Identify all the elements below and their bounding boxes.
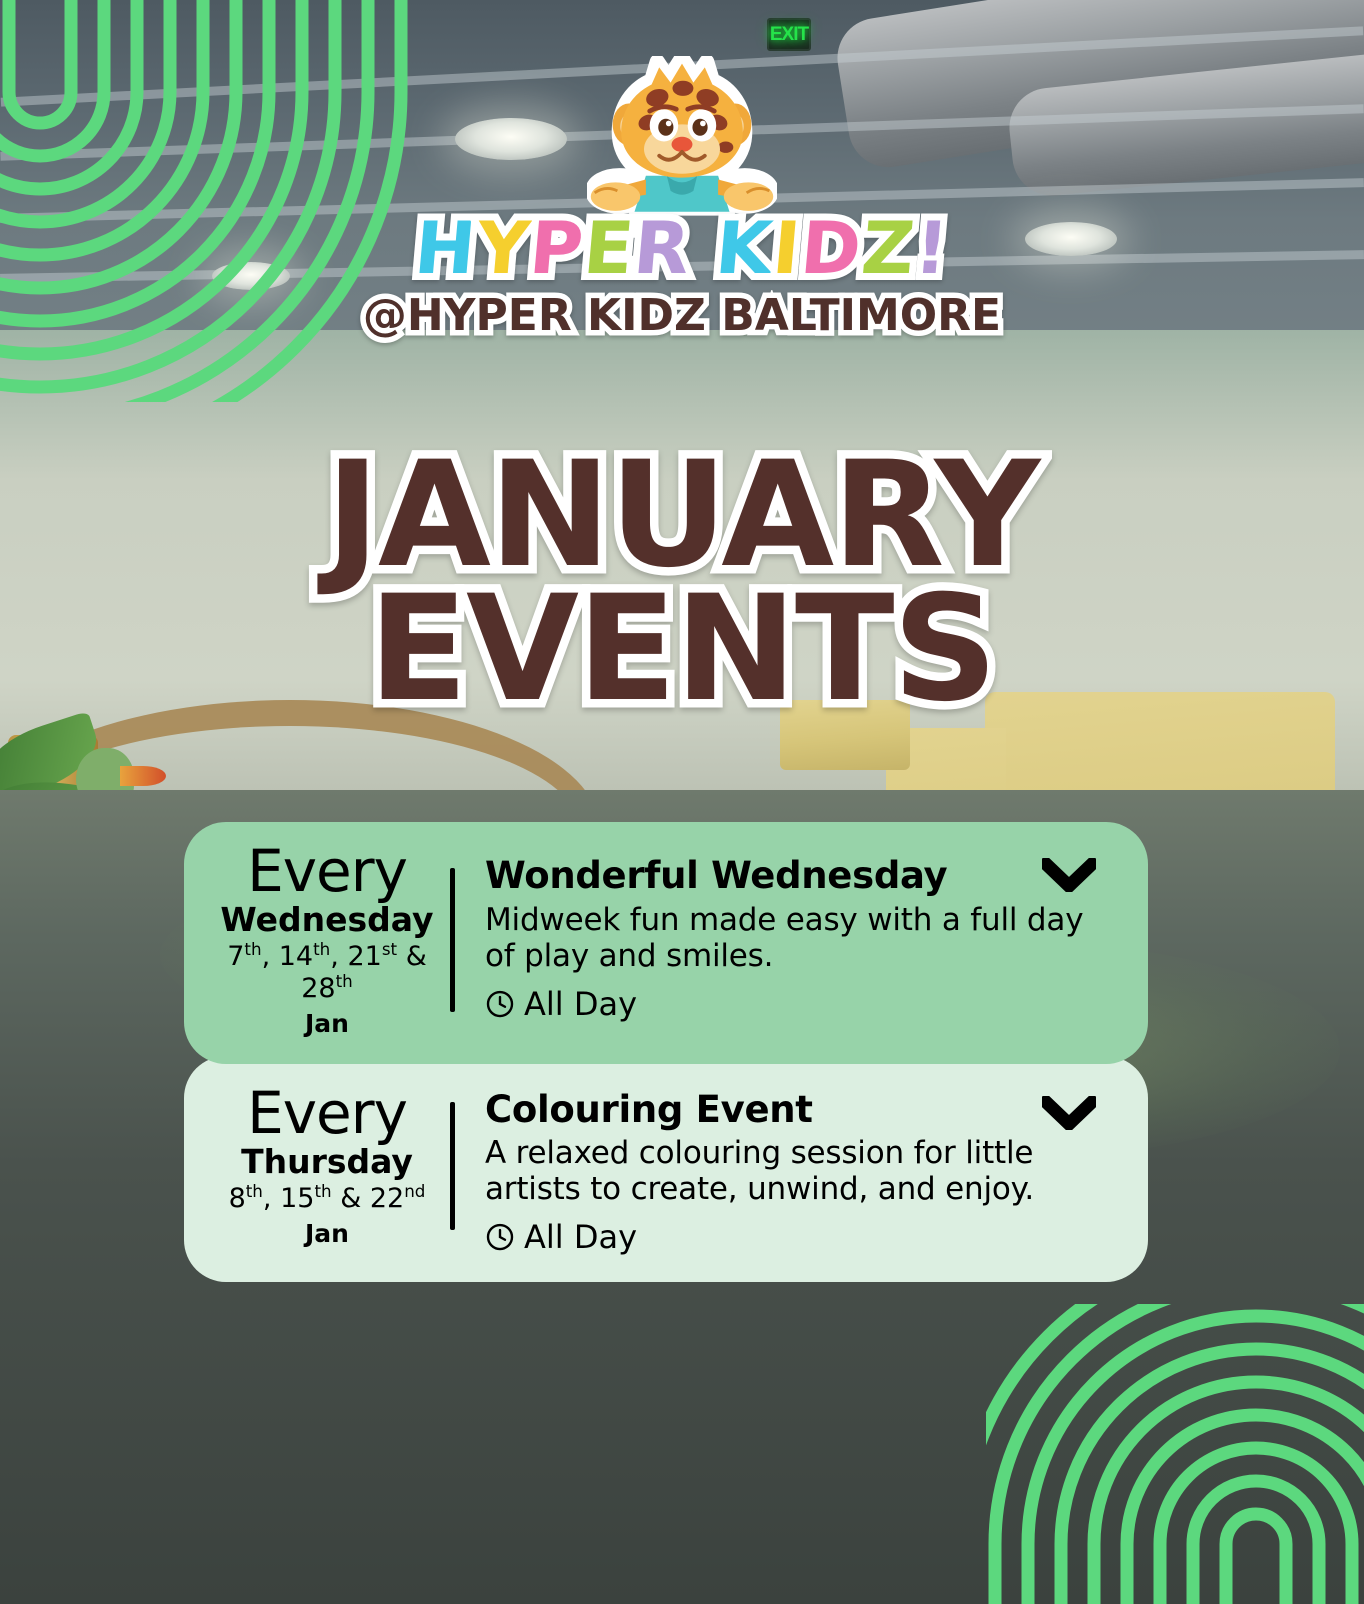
event-info-column: Wonderful Wednesday Midweek fun made eas…: [455, 844, 1114, 1038]
event-name: Wonderful Wednesday: [485, 856, 1114, 897]
clock-icon: [485, 1222, 515, 1252]
events-list: Every Wednesday 7th, 14th, 21st & 28th J…: [184, 822, 1148, 1282]
event-dates: 8th, 15th & 22nd: [218, 1182, 436, 1214]
event-every-label: Every: [218, 844, 436, 900]
event-card[interactable]: Every Thursday 8th, 15th & 22nd Jan Colo…: [184, 1056, 1148, 1283]
event-description: Midweek fun made easy with a full day of…: [485, 903, 1085, 975]
brand-logo-block: HYPER KIDZ! @HYPER KIDZ BALTIMORE: [0, 56, 1364, 341]
event-time-label: All Day: [524, 985, 637, 1023]
event-weekday: Thursday: [218, 1144, 436, 1181]
instagram-handle: @HYPER KIDZ BALTIMORE: [363, 290, 1001, 341]
event-date-column: Every Wednesday 7th, 14th, 21st & 28th J…: [218, 844, 450, 1038]
event-info-column: Colouring Event A relaxed colouring sess…: [455, 1078, 1114, 1257]
event-description: A relaxed colouring session for little a…: [485, 1136, 1085, 1208]
event-name: Colouring Event: [485, 1090, 1114, 1131]
event-time-row: All Day: [485, 985, 1114, 1023]
page-title: JANUARY EVENTS: [0, 448, 1364, 717]
chevron-down-icon[interactable]: [1042, 1096, 1096, 1130]
exit-sign-label: EXIT: [770, 24, 808, 46]
chevron-down-icon[interactable]: [1042, 858, 1096, 892]
event-dates: 7th, 14th, 21st & 28th: [218, 940, 436, 1004]
exit-sign: EXIT: [767, 18, 811, 51]
clock-icon: [485, 989, 515, 1019]
event-weekday: Wednesday: [218, 902, 436, 939]
event-time-row: All Day: [485, 1218, 1114, 1256]
event-every-label: Every: [218, 1086, 436, 1142]
event-time-label: All Day: [524, 1218, 637, 1256]
event-month: Jan: [218, 1219, 436, 1248]
event-month: Jan: [218, 1009, 436, 1038]
event-date-column: Every Thursday 8th, 15th & 22nd Jan: [218, 1078, 450, 1257]
event-card[interactable]: Every Wednesday 7th, 14th, 21st & 28th J…: [184, 822, 1148, 1064]
hyper-kidz-wordmark: HYPER KIDZ!: [415, 212, 948, 284]
event-poster: EXIT: [0, 0, 1364, 1604]
title-line-2: EVENTS: [0, 582, 1364, 716]
